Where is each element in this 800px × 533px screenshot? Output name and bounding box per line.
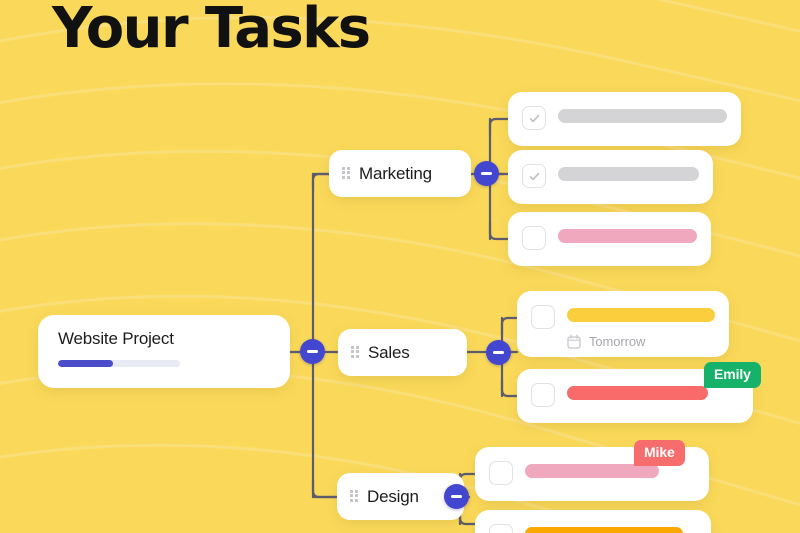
collapse-button-sales[interactable] (486, 340, 511, 365)
collapse-button-root[interactable] (300, 339, 325, 364)
branch-node-marketing[interactable]: Marketing (329, 150, 471, 197)
task-mindmap-canvas: Your Tasks Website Project Marketing Sal… (0, 0, 800, 533)
task-body (525, 523, 697, 533)
task-title-placeholder-bar (558, 167, 699, 181)
task-checkbox[interactable] (522, 226, 546, 250)
task-checkbox[interactable] (531, 383, 555, 407)
branch-label-marketing: Marketing (359, 164, 432, 184)
task-checkbox[interactable] (489, 524, 513, 533)
task-checkbox[interactable] (531, 305, 555, 329)
task-body (558, 105, 727, 133)
task-card[interactable] (508, 92, 741, 146)
collapse-button-marketing[interactable] (474, 161, 499, 186)
minus-icon (493, 351, 504, 353)
branch-label-sales: Sales (368, 343, 410, 363)
page-title: Your Tasks (52, 0, 370, 61)
task-body (558, 225, 697, 253)
minus-icon (481, 172, 492, 174)
task-card[interactable] (475, 510, 711, 533)
assignee-badge-emily[interactable]: Emily (704, 362, 761, 388)
minus-icon (451, 495, 462, 497)
drag-handle-icon[interactable] (351, 346, 359, 360)
task-body (558, 163, 699, 191)
branch-node-sales[interactable]: Sales (338, 329, 467, 376)
task-card[interactable] (508, 212, 711, 266)
task-title-placeholder-bar (558, 109, 727, 123)
assignee-badge-mike[interactable]: Mike (634, 440, 685, 466)
task-card[interactable]: Tomorrow (517, 291, 729, 357)
minus-icon (307, 350, 318, 352)
root-node-website-project[interactable]: Website Project (38, 315, 290, 388)
task-card[interactable] (508, 150, 713, 204)
task-checkbox[interactable] (522, 164, 546, 188)
task-title-placeholder-bar (525, 464, 659, 478)
branch-label-design: Design (367, 487, 419, 507)
root-progress-fill (58, 360, 113, 367)
root-node-label: Website Project (58, 329, 270, 349)
collapse-button-design[interactable] (444, 484, 469, 509)
drag-handle-icon[interactable] (342, 167, 350, 181)
task-due-date[interactable]: Tomorrow (567, 334, 715, 349)
task-body: Tomorrow (567, 304, 715, 344)
task-due-date-label: Tomorrow (589, 334, 645, 349)
task-checkbox[interactable] (489, 461, 513, 485)
task-title-placeholder-bar (567, 386, 708, 400)
check-icon (528, 170, 541, 183)
root-progress-bar (58, 360, 180, 367)
task-title-placeholder-bar (567, 308, 715, 322)
check-icon (528, 112, 541, 125)
task-title-placeholder-bar (525, 527, 683, 533)
drag-handle-icon[interactable] (350, 490, 358, 504)
task-checkbox[interactable] (522, 106, 546, 130)
calendar-icon (567, 334, 581, 349)
task-title-placeholder-bar (558, 229, 697, 243)
